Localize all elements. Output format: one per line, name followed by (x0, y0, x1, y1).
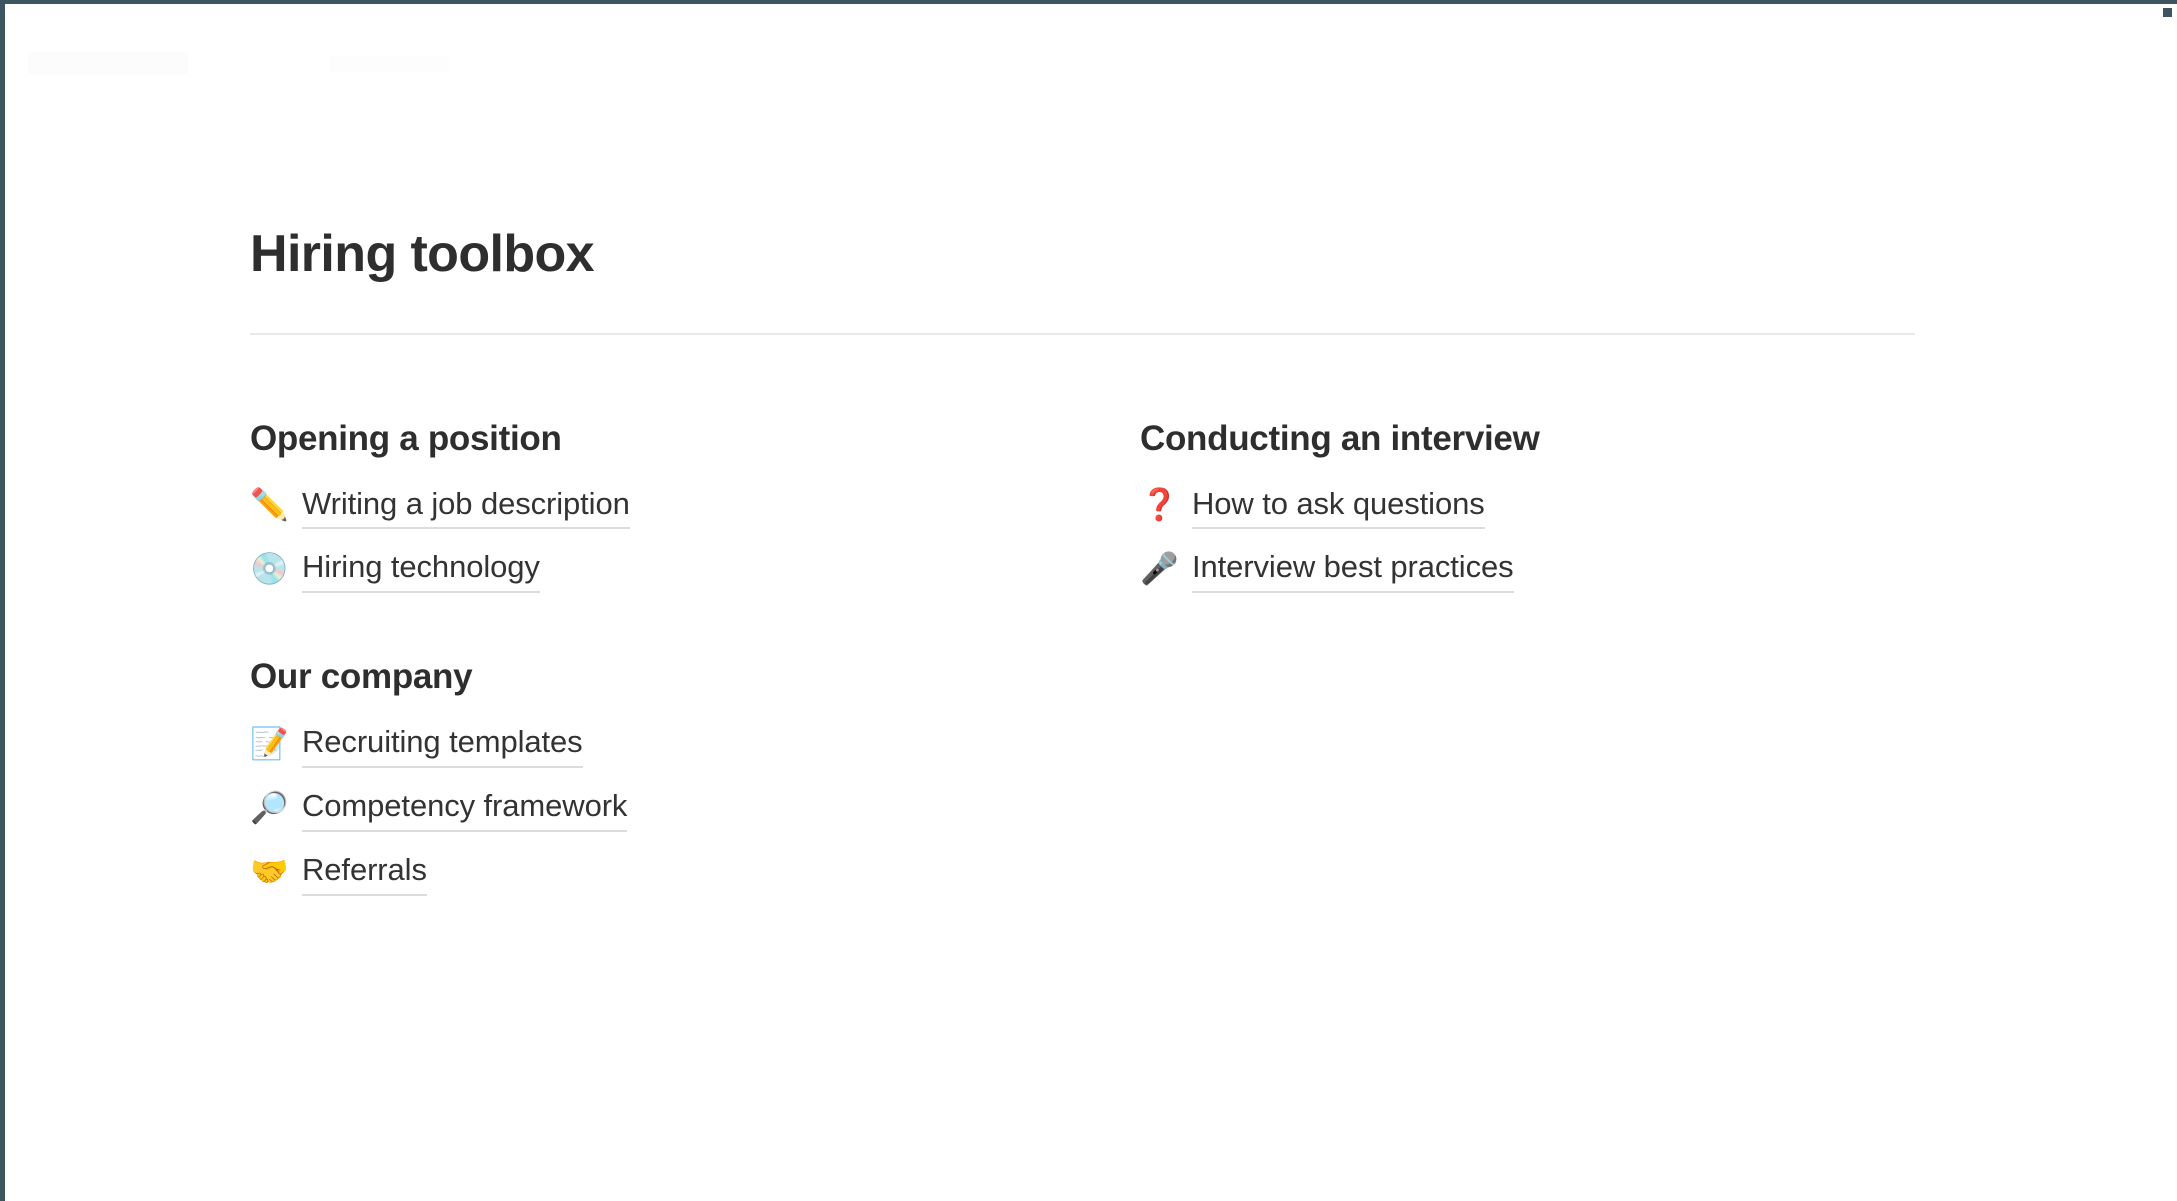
link-hiring-technology[interactable]: Hiring technology (302, 546, 540, 593)
link-list: 📝 Recruiting templates 🔎 Competency fram… (250, 721, 1140, 896)
section-heading: Our company (250, 655, 1140, 699)
title-divider (250, 333, 1915, 335)
window-corner-marker (2163, 8, 2172, 17)
document-page: Hiring toolbox Opening a position ✏️ Wri… (0, 0, 2177, 1201)
column-right: Conducting an interview ❓ How to ask que… (1140, 417, 1930, 610)
faded-header-artifact-secondary (330, 56, 450, 72)
window-top-border (0, 0, 2177, 4)
section-heading: Conducting an interview (1140, 417, 1930, 461)
section-heading: Opening a position (250, 417, 1140, 461)
column-left: Opening a position ✏️ Writing a job desc… (250, 417, 1140, 913)
list-item[interactable]: 🔎 Competency framework (250, 785, 1140, 832)
link-writing-a-job-description[interactable]: Writing a job description (302, 483, 630, 530)
pencil-icon: ✏️ (250, 490, 302, 521)
window-left-border (0, 0, 5, 1201)
microphone-icon: 🎤 (1140, 554, 1192, 585)
red-question-mark-icon: ❓ (1140, 490, 1192, 521)
link-recruiting-templates[interactable]: Recruiting templates (302, 721, 583, 768)
list-item[interactable]: 🤝 Referrals (250, 849, 1140, 896)
list-item[interactable]: 🎤 Interview best practices (1140, 546, 1930, 593)
toolbox-columns: Opening a position ✏️ Writing a job desc… (250, 417, 1930, 913)
link-list: ✏️ Writing a job description 💿 Hiring te… (250, 483, 1140, 594)
link-competency-framework[interactable]: Competency framework (302, 785, 627, 832)
list-item[interactable]: ❓ How to ask questions (1140, 483, 1930, 530)
memo-icon: 📝 (250, 729, 302, 760)
list-item[interactable]: 📝 Recruiting templates (250, 721, 1140, 768)
magnifying-glass-icon: 🔎 (250, 793, 302, 824)
faded-header-artifact (28, 52, 188, 74)
page-title: Hiring toolbox (250, 225, 1930, 285)
list-item[interactable]: 💿 Hiring technology (250, 546, 1140, 593)
handshake-icon: 🤝 (250, 857, 302, 888)
document-content: Hiring toolbox Opening a position ✏️ Wri… (250, 225, 1930, 913)
list-item[interactable]: ✏️ Writing a job description (250, 483, 1140, 530)
section-opening-a-position: Opening a position ✏️ Writing a job desc… (250, 417, 1140, 593)
section-conducting-an-interview: Conducting an interview ❓ How to ask que… (1140, 417, 1930, 593)
link-interview-best-practices[interactable]: Interview best practices (1192, 546, 1514, 593)
link-referrals[interactable]: Referrals (302, 849, 427, 896)
link-list: ❓ How to ask questions 🎤 Interview best … (1140, 483, 1930, 594)
section-our-company: Our company 📝 Recruiting templates 🔎 Com… (250, 655, 1140, 895)
link-how-to-ask-questions[interactable]: How to ask questions (1192, 483, 1485, 530)
optical-disk-icon: 💿 (250, 554, 302, 585)
